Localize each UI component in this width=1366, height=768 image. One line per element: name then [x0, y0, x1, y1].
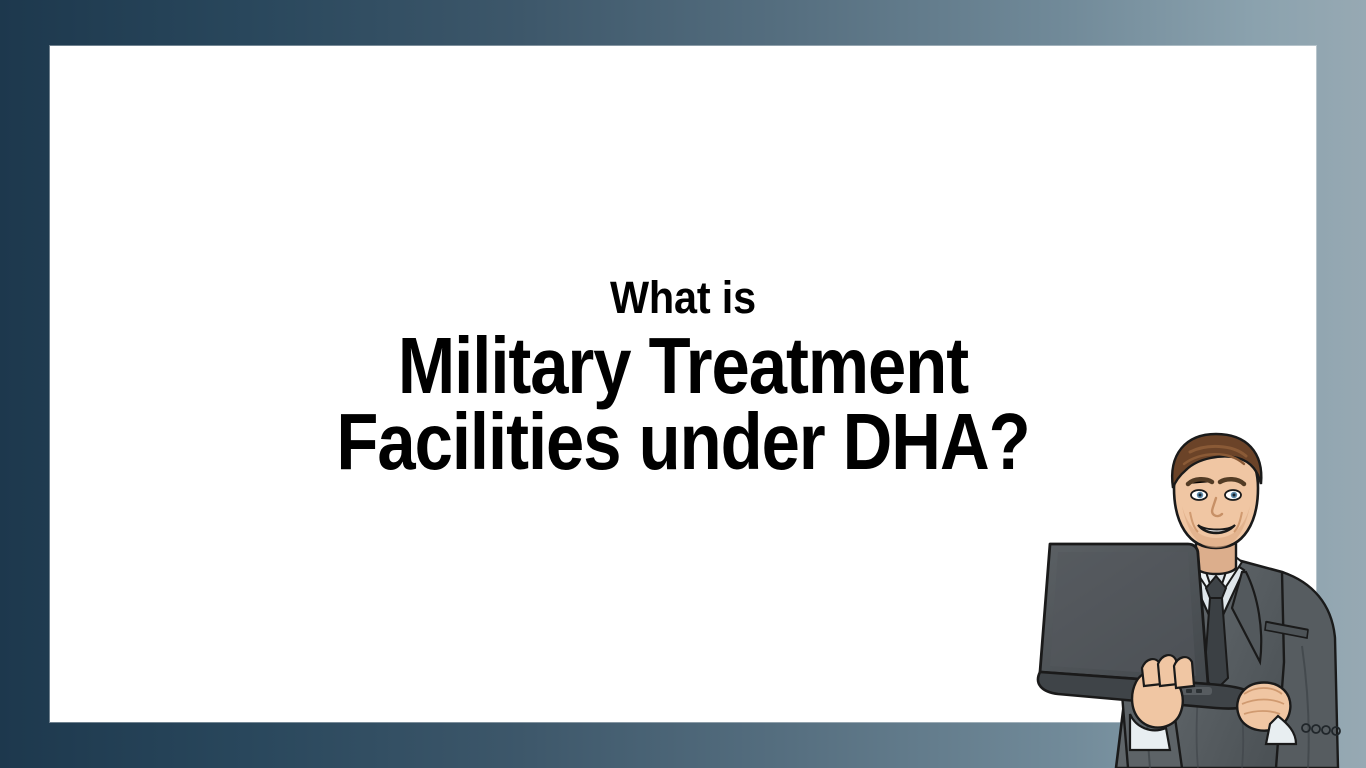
- headline-line-1: Military Treatment: [139, 328, 1228, 404]
- headline-line-2: Facilities under DHA?: [139, 404, 1228, 480]
- eyebrow-text: What is: [101, 272, 1266, 324]
- sleeve-cuff-buttons: [1302, 724, 1340, 735]
- page-title: Military Treatment Facilities under DHA?: [139, 328, 1228, 480]
- content-card: What is Military Treatment Facilities un…: [50, 46, 1316, 722]
- slide-canvas: What is Military Treatment Facilities un…: [0, 0, 1366, 768]
